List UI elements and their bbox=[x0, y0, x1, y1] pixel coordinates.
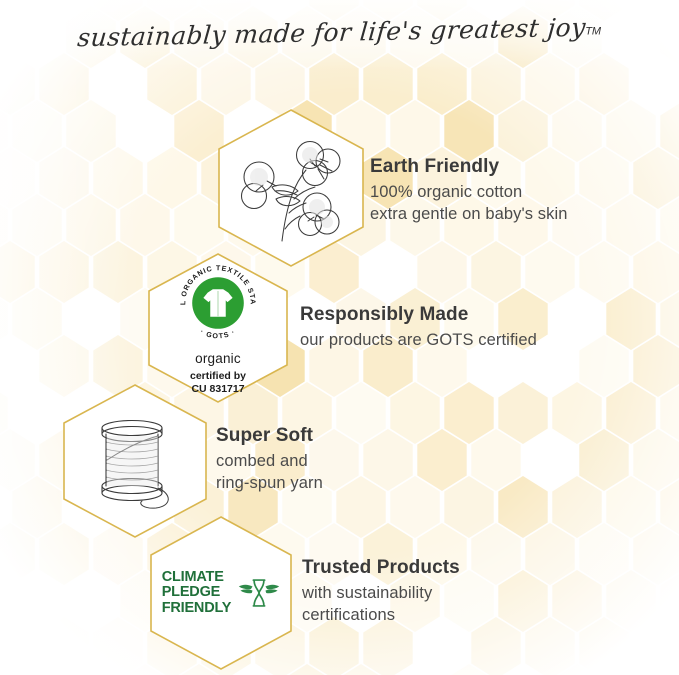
gots-certification-icon: GLOBAL ORGANIC TEXTILE STANDARD · GOTS ·… bbox=[175, 260, 261, 396]
winged-hourglass-icon bbox=[238, 573, 280, 613]
feature-text-responsibly-made: Responsibly Made our products are GOTS c… bbox=[300, 303, 640, 351]
climate-pledge-line1: CLIMATE bbox=[162, 570, 232, 585]
gots-seal-icon: GLOBAL ORGANIC TEXTILE STANDARD · GOTS · bbox=[175, 260, 261, 346]
cotton-branch-icon bbox=[232, 129, 350, 247]
feature-line: 100% organic cotton bbox=[370, 181, 670, 203]
thread-spool-icon bbox=[80, 406, 190, 516]
feature-line: certifications bbox=[302, 604, 622, 626]
feature-line: extra gentle on baby's skin bbox=[370, 203, 670, 225]
feature-title: Super Soft bbox=[216, 424, 516, 448]
feature-title: Responsibly Made bbox=[300, 303, 640, 327]
hex-frame-earth-friendly bbox=[215, 108, 367, 268]
climate-pledge-friendly-icon: CLIMATE PLEDGE FRIENDLY bbox=[162, 570, 281, 615]
climate-pledge-wordmark: CLIMATE PLEDGE FRIENDLY bbox=[162, 570, 232, 615]
feature-line: ring-spun yarn bbox=[216, 472, 516, 494]
feature-line: with sustainability bbox=[302, 582, 622, 604]
feature-line: combed and bbox=[216, 450, 516, 472]
gots-certified-by-text: certified by bbox=[190, 370, 246, 382]
promo-graphic: sustainably made for life's greatest joy… bbox=[0, 0, 679, 675]
feature-title: Earth Friendly bbox=[370, 155, 670, 179]
hex-frame-responsibly-made: GLOBAL ORGANIC TEXTILE STANDARD · GOTS ·… bbox=[145, 252, 291, 404]
feature-text-earth-friendly: Earth Friendly 100% organic cotton extra… bbox=[370, 155, 670, 225]
hex-frame-trusted-products: CLIMATE PLEDGE FRIENDLY bbox=[147, 515, 295, 671]
climate-pledge-line2: PLEDGE bbox=[162, 585, 232, 600]
feature-text-trusted-products: Trusted Products with sustainability cer… bbox=[302, 556, 622, 626]
climate-pledge-line3: FRIENDLY bbox=[162, 601, 232, 616]
gots-organic-label: organic bbox=[195, 351, 241, 366]
feature-title: Trusted Products bbox=[302, 556, 622, 580]
feature-text-super-soft: Super Soft combed and ring-spun yarn bbox=[216, 424, 516, 494]
feature-line: our products are GOTS certified bbox=[300, 329, 640, 351]
svg-text:· GOTS ·: · GOTS · bbox=[199, 327, 238, 340]
